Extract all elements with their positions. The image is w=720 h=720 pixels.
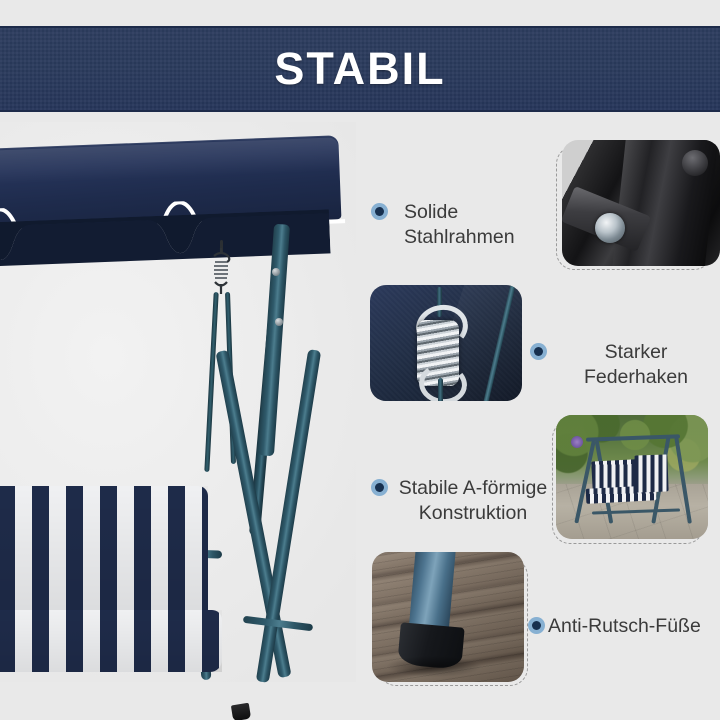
post-rivet-lower xyxy=(275,318,283,326)
garden-swing-backrest-right xyxy=(634,454,669,492)
feature-label-starker-federhaken: Starker Federhaken xyxy=(556,340,716,390)
page-title: STABIL xyxy=(274,43,445,95)
anti-slip-foot-photo xyxy=(372,552,524,682)
product-illustration xyxy=(0,112,356,720)
header-banner: STABIL xyxy=(0,26,720,112)
a-frame-garden-photo xyxy=(556,415,708,539)
spring-hook-photo xyxy=(370,285,522,401)
backrest-shading xyxy=(0,486,208,614)
spring-hook-icon xyxy=(208,248,234,294)
bullet-anti-rutsch-fuesse xyxy=(528,617,545,634)
stability-infographic: STABIL xyxy=(0,0,720,720)
foot-photo-cast-shadow xyxy=(387,656,481,677)
anti-slip-foot-front xyxy=(231,703,251,720)
backrest-cushion xyxy=(0,486,208,614)
bullet-solide-stahlrahmen xyxy=(371,203,388,220)
hook-photo-lower-wire xyxy=(438,378,443,401)
joint-bolt-secondary xyxy=(682,150,708,176)
feature-label-anti-rutsch-fuesse: Anti-Rutsch-Füße xyxy=(548,614,720,639)
bullet-starker-federhaken xyxy=(530,343,547,360)
bullet-stabile-a-foermige-konstruktion xyxy=(371,479,388,496)
seat-cushion xyxy=(0,610,222,672)
post-rivet-upper xyxy=(272,268,280,276)
seat-shading xyxy=(0,610,222,672)
steel-frame-joint-photo xyxy=(562,140,720,266)
feature-label-solide-stahlrahmen: Solide Stahlrahmen xyxy=(404,200,554,250)
feature-label-stabile-a-foermige-konstruktion: Stabile A-förmige Konstruktion xyxy=(392,476,554,526)
